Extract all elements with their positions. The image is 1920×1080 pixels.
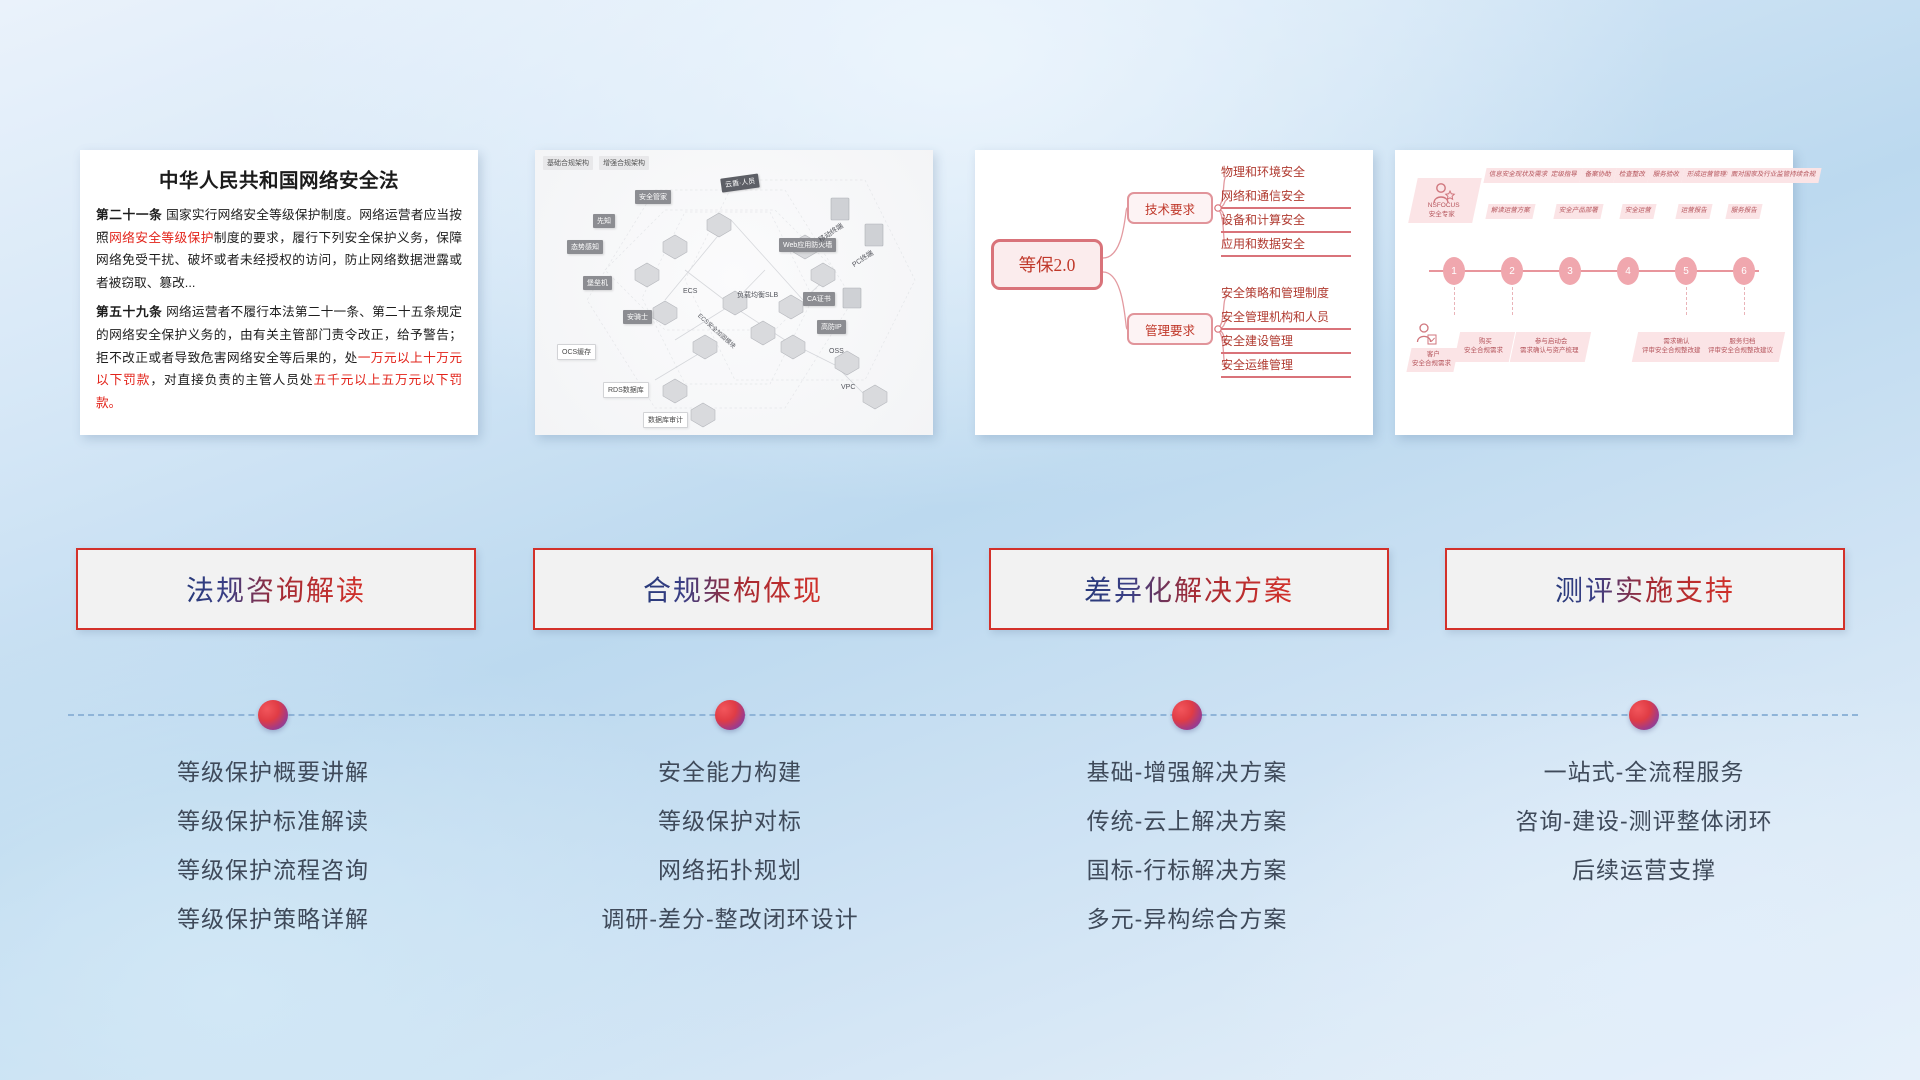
roadmap-top-chip-2: 定级指导 [1545, 168, 1582, 183]
card-cybersecurity-law[interactable]: 中华人民共和国网络安全法 第二十一条 国家实行网络安全等级保护制度。网络运营者应… [80, 150, 478, 435]
headline-box-evaluation-support[interactable]: 测评实施支持 [1445, 548, 1845, 630]
headline-label-2: 合规架构体现 [643, 569, 823, 609]
detail-column-1: 等级保护概要讲解 等级保护标准解读 等级保护流程咨询 等级保护策略详解 [43, 748, 503, 944]
mindmap-root-node[interactable]: 等保2.0 [991, 239, 1103, 290]
roadmap-phase-chip-3: 安全运营 [1619, 204, 1656, 219]
mindmap: 等保2.0 技术要求 物理和环境安全 网络和通信安全 设备和计算安全 应用和数据… [975, 150, 1373, 435]
node-label-ocs-cache: OCS缓存 [557, 344, 596, 360]
node-label-oss: OSS [829, 348, 844, 355]
node-label-vpc: VPC [841, 384, 855, 391]
law-article-21: 第二十一条 国家实行网络安全等级保护制度。网络运营者应当按照网络安全等级保护制度… [96, 204, 462, 294]
list-item: 国标-行标解决方案 [957, 846, 1417, 895]
roadmap-diagram: NSFOCUS 安全专家 信息安全现状及需求沟通 定级指导 备案协助 检查整改 … [1395, 150, 1793, 435]
roadmap-top-chip-4: 检查整改 [1613, 168, 1650, 183]
node-label-anqishi: 安骑士 [623, 310, 652, 324]
list-item: 等级保护对标 [500, 797, 960, 846]
node-label-ca-certificate: CA证书 [803, 292, 835, 306]
detail-columns: 等级保护概要讲解 等级保护标准解读 等级保护流程咨询 等级保护策略详解 安全能力… [0, 748, 1920, 1008]
roadmap-bottom-chip-review-sub: 评审安全合规整改建议 [1642, 347, 1707, 356]
expert-person-icon [1431, 182, 1457, 206]
timeline [0, 695, 1920, 735]
roadmap-phase-chip-5: 服务报告 [1725, 204, 1762, 219]
roadmap-step-5: 5 [1675, 257, 1697, 285]
roadmap-bottom-chip-archive: 服务归档 评审安全合规整改建议 [1698, 332, 1785, 362]
roadmap-bottom-chip-archive-sub: 评审安全合规整改建议 [1708, 347, 1773, 356]
roadmap-bottom-chip-purchase: 购买 安全合规需求 [1454, 332, 1515, 362]
mindmap-leaf-physical-env[interactable]: 物理和环境安全 [1221, 162, 1351, 185]
detail-column-4: 一站式-全流程服务 咨询-建设-测评整体闭环 后续运营支撑 [1414, 748, 1874, 895]
list-item: 一站式-全流程服务 [1414, 748, 1874, 797]
article-21-label: 第二十一条 [96, 208, 162, 222]
roadmap-bottom-chip-customer-main: 客户 [1414, 351, 1453, 360]
roadmap-bottom-chip-kickoff-main: 参与启动会 [1522, 338, 1581, 347]
slide-canvas: 中华人民共和国网络安全法 第二十一条 国家实行网络安全等级保护制度。网络运营者应… [0, 0, 1920, 1080]
card-mindmap-dengbao[interactable]: 等保2.0 技术要求 物理和环境安全 网络和通信安全 设备和计算安全 应用和数据… [975, 150, 1373, 435]
node-label-db-audit: 数据库审计 [643, 412, 688, 428]
node-label-rds-database: RDS数据库 [603, 382, 649, 398]
headline-label-4: 测评实施支持 [1555, 569, 1735, 609]
timeline-dot-4[interactable] [1629, 700, 1659, 730]
mindmap-leaf-policy-system[interactable]: 安全策略和管理制度 [1221, 283, 1351, 306]
list-item: 基础-增强解决方案 [957, 748, 1417, 797]
list-item: 咨询-建设-测评整体闭环 [1414, 797, 1874, 846]
mindmap-leaf-construction[interactable]: 安全建设管理 [1221, 331, 1351, 354]
article-59-label: 第五十九条 [96, 305, 162, 319]
timeline-dot-2[interactable] [715, 700, 745, 730]
customer-person-icon [1415, 322, 1437, 348]
node-label-ecs: ECS [683, 288, 697, 295]
roadmap-bottom-chip-purchase-main: 购买 [1466, 338, 1505, 347]
roadmap-tick-4 [1744, 287, 1745, 315]
mindmap-leaf-operations[interactable]: 安全运维管理 [1221, 355, 1351, 378]
roadmap-bottom-chip-purchase-sub: 安全合规需求 [1464, 347, 1503, 356]
list-item: 后续运营支撑 [1414, 846, 1874, 895]
headline-label-3: 差异化解决方案 [1084, 569, 1294, 609]
headline-box-regulation-consulting[interactable]: 法规咨询解读 [76, 548, 476, 630]
roadmap-bottom-chip-customer-sub: 安全合规需求 [1412, 360, 1451, 369]
roadmap-top-chip-5: 服务验收 [1647, 168, 1684, 183]
roadmap-top-chip-7: 面对国家及行业监管持续合规 [1725, 168, 1821, 183]
mindmap-leaf-org-personnel[interactable]: 安全管理机构和人员 [1221, 307, 1351, 330]
list-item: 等级保护流程咨询 [43, 846, 503, 895]
law-document: 中华人民共和国网络安全法 第二十一条 国家实行网络安全等级保护制度。网络运营者应… [80, 150, 478, 414]
image-card-row: 中华人民共和国网络安全法 第二十一条 国家实行网络安全等级保护制度。网络运营者应… [0, 150, 1920, 450]
headline-label-1: 法规咨询解读 [186, 569, 366, 609]
timeline-dot-3[interactable] [1172, 700, 1202, 730]
detail-column-2: 安全能力构建 等级保护对标 网络拓扑规划 调研-差分-整改闭环设计 [500, 748, 960, 944]
list-item: 调研-差分-整改闭环设计 [500, 895, 960, 944]
list-item: 等级保护标准解读 [43, 797, 503, 846]
detail-column-3: 基础-增强解决方案 传统-云上解决方案 国标-行标解决方案 多元-异构综合方案 [957, 748, 1417, 944]
node-label-anti-ddos-ip: 高防IP [817, 320, 846, 334]
list-item: 多元-异构综合方案 [957, 895, 1417, 944]
roadmap-bottom-chip-kickoff-sub: 需求确认与资产梳理 [1520, 347, 1579, 356]
mindmap-branch-management[interactable]: 管理要求 [1127, 313, 1213, 345]
article-21-highlight: 网络安全等级保护 [109, 231, 214, 245]
roadmap-step-4: 4 [1617, 257, 1639, 285]
roadmap-step-3: 3 [1559, 257, 1581, 285]
architecture-diagram: 基础合规架构 增强合规架构 [535, 150, 933, 435]
node-label-situational-awareness: 态势感知 [567, 240, 603, 254]
list-item: 等级保护策略详解 [43, 895, 503, 944]
roadmap-bottom-chip-customer: 客户 安全合规需求 [1406, 348, 1458, 372]
roadmap-tick-2 [1512, 287, 1513, 315]
architecture-node-shapes [535, 150, 933, 435]
roadmap-tick-1 [1454, 287, 1455, 315]
node-label-slb: 负载均衡SLB [737, 290, 778, 300]
timeline-dot-1[interactable] [258, 700, 288, 730]
node-label-xianzhi: 先知 [593, 214, 615, 228]
mindmap-leaf-app-data[interactable]: 应用和数据安全 [1221, 234, 1351, 257]
node-label-security-butler: 安全管家 [635, 190, 671, 204]
roadmap-axis-line [1429, 270, 1759, 272]
headline-box-compliance-architecture[interactable]: 合规架构体现 [533, 548, 933, 630]
mindmap-leaf-device-compute[interactable]: 设备和计算安全 [1221, 210, 1351, 233]
roadmap-phase-chip-1: 解读运营方案 [1485, 204, 1535, 219]
roadmap-tick-3 [1686, 287, 1687, 315]
article-59-middle: ，对直接负责的主管人员处 [150, 373, 313, 387]
node-label-bastion-host: 堡垒机 [583, 276, 612, 290]
roadmap-bottom-chip-kickoff: 参与启动会 需求确认与资产梳理 [1510, 332, 1591, 362]
headline-row: 法规咨询解读 合规架构体现 差异化解决方案 测评实施支持 [0, 548, 1920, 638]
roadmap-bottom-chip-review-main: 需求确认 [1644, 338, 1709, 347]
law-title: 中华人民共和国网络安全法 [96, 164, 462, 193]
roadmap-top-chip-3: 备案协助 [1579, 168, 1616, 183]
card-nsfocus-roadmap[interactable]: NSFOCUS 安全专家 信息安全现状及需求沟通 定级指导 备案协助 检查整改 … [1395, 150, 1793, 435]
roadmap-expert-role: 安全专家 [1414, 211, 1470, 220]
list-item: 安全能力构建 [500, 748, 960, 797]
roadmap-bottom-chip-archive-main: 服务归档 [1710, 338, 1775, 347]
mindmap-leaf-network-comm[interactable]: 网络和通信安全 [1221, 186, 1351, 209]
list-item: 等级保护概要讲解 [43, 748, 503, 797]
mindmap-branch-technical[interactable]: 技术要求 [1127, 192, 1213, 224]
law-article-59: 第五十九条 网络运营者不履行本法第二十一条、第二十五条规定的网络安全保护义务的，… [96, 301, 462, 414]
roadmap-step-6: 6 [1733, 257, 1755, 285]
list-item: 网络拓扑规划 [500, 846, 960, 895]
timeline-dashed-line [68, 714, 1858, 716]
roadmap-step-2: 2 [1501, 257, 1523, 285]
roadmap-step-1: 1 [1443, 257, 1465, 285]
list-item: 传统-云上解决方案 [957, 797, 1417, 846]
roadmap-phase-chip-4: 运营报告 [1675, 204, 1712, 219]
roadmap-phase-chip-2: 安全产品部署 [1553, 204, 1603, 219]
card-compliance-architecture[interactable]: 基础合规架构 增强合规架构 [535, 150, 933, 435]
headline-box-differentiated-solution[interactable]: 差异化解决方案 [989, 548, 1389, 630]
